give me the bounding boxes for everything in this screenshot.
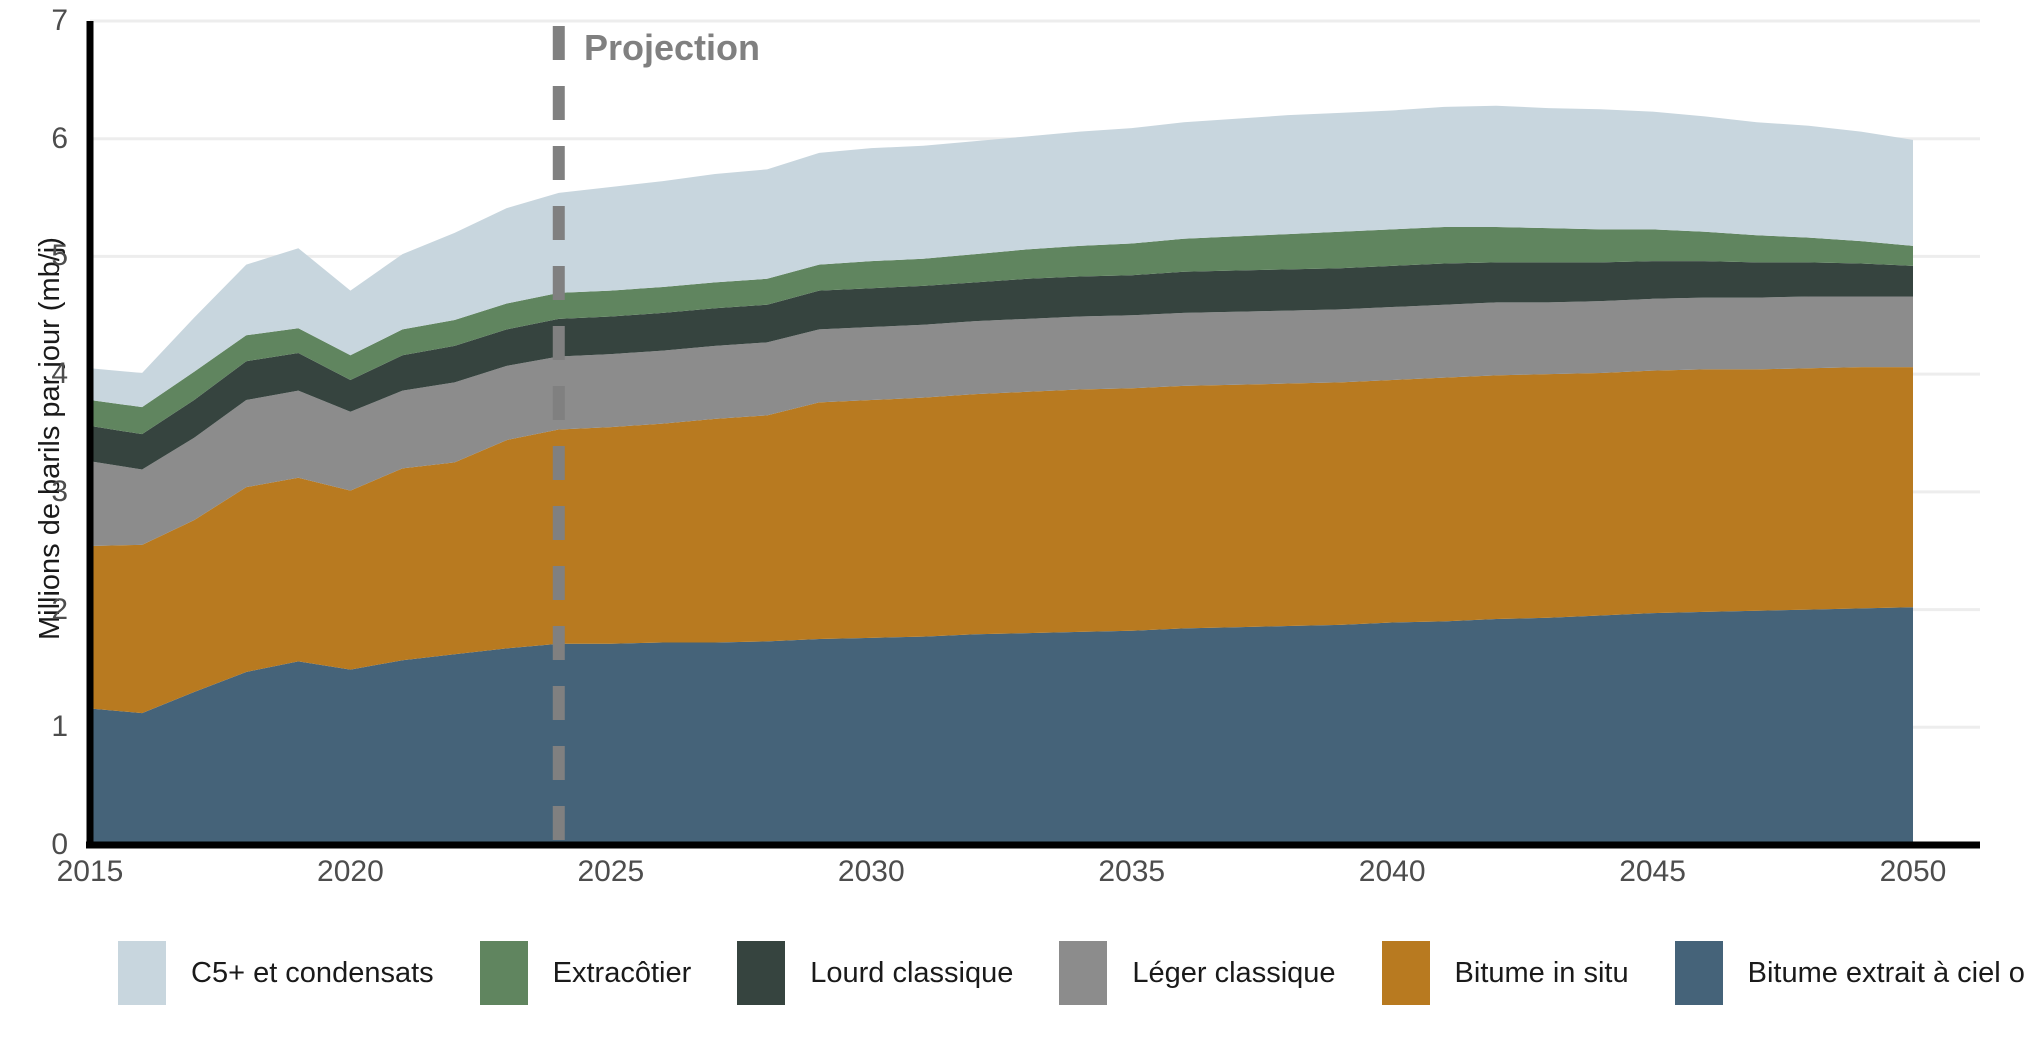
y-tick-label: 5 bbox=[18, 239, 68, 273]
y-tick-label: 2 bbox=[18, 593, 68, 627]
stacked-area-chart bbox=[0, 0, 2025, 880]
x-tick-label: 2025 bbox=[541, 855, 681, 889]
legend-item-1[interactable]: Extracôtier bbox=[480, 940, 738, 1006]
x-tick-label: 2030 bbox=[801, 855, 941, 889]
legend-label: C5+ et condensats bbox=[191, 957, 434, 990]
legend-item-4[interactable]: Bitume in situ bbox=[1382, 940, 1675, 1006]
x-tick-label: 2050 bbox=[1843, 855, 1983, 889]
legend-swatch bbox=[118, 941, 166, 1005]
legend-item-3[interactable]: Léger classique bbox=[1059, 940, 1381, 1006]
x-tick-label: 2040 bbox=[1322, 855, 1462, 889]
x-tick-label: 2020 bbox=[280, 855, 420, 889]
y-tick-label: 7 bbox=[18, 4, 68, 38]
legend-label: Extracôtier bbox=[553, 957, 692, 990]
x-tick-label: 2035 bbox=[1062, 855, 1202, 889]
legend-swatch bbox=[1059, 941, 1107, 1005]
y-axis-label: Millions de barils par jour (mb/j) bbox=[34, 237, 67, 640]
plot-area bbox=[0, 0, 2025, 880]
x-tick-label: 2015 bbox=[20, 855, 160, 889]
legend-swatch bbox=[480, 941, 528, 1005]
legend-swatch bbox=[737, 941, 785, 1005]
x-tick-label: 2045 bbox=[1583, 855, 1723, 889]
y-tick-label: 1 bbox=[18, 710, 68, 744]
legend-swatch bbox=[1382, 941, 1430, 1005]
y-tick-label: 4 bbox=[18, 357, 68, 391]
legend-item-5[interactable]: Bitume extrait à ciel ouvert bbox=[1675, 940, 2025, 1006]
chart-legend: C5+ et condensatsExtracôtierLourd classi… bbox=[0, 938, 2025, 1008]
chart-page: Millions de barils par jour (mb/j) 01234… bbox=[0, 0, 2025, 1050]
legend-label: Lourd classique bbox=[810, 957, 1013, 990]
y-tick-label: 3 bbox=[18, 475, 68, 509]
projection-annotation-label: Projection bbox=[584, 27, 760, 69]
y-tick-label: 6 bbox=[18, 122, 68, 156]
legend-item-2[interactable]: Lourd classique bbox=[737, 940, 1059, 1006]
legend-item-0[interactable]: C5+ et condensats bbox=[118, 940, 480, 1006]
legend-label: Léger classique bbox=[1132, 957, 1335, 990]
legend-swatch bbox=[1675, 941, 1723, 1005]
legend-label: Bitume extrait à ciel ouvert bbox=[1748, 957, 2025, 990]
legend-label: Bitume in situ bbox=[1455, 957, 1629, 990]
